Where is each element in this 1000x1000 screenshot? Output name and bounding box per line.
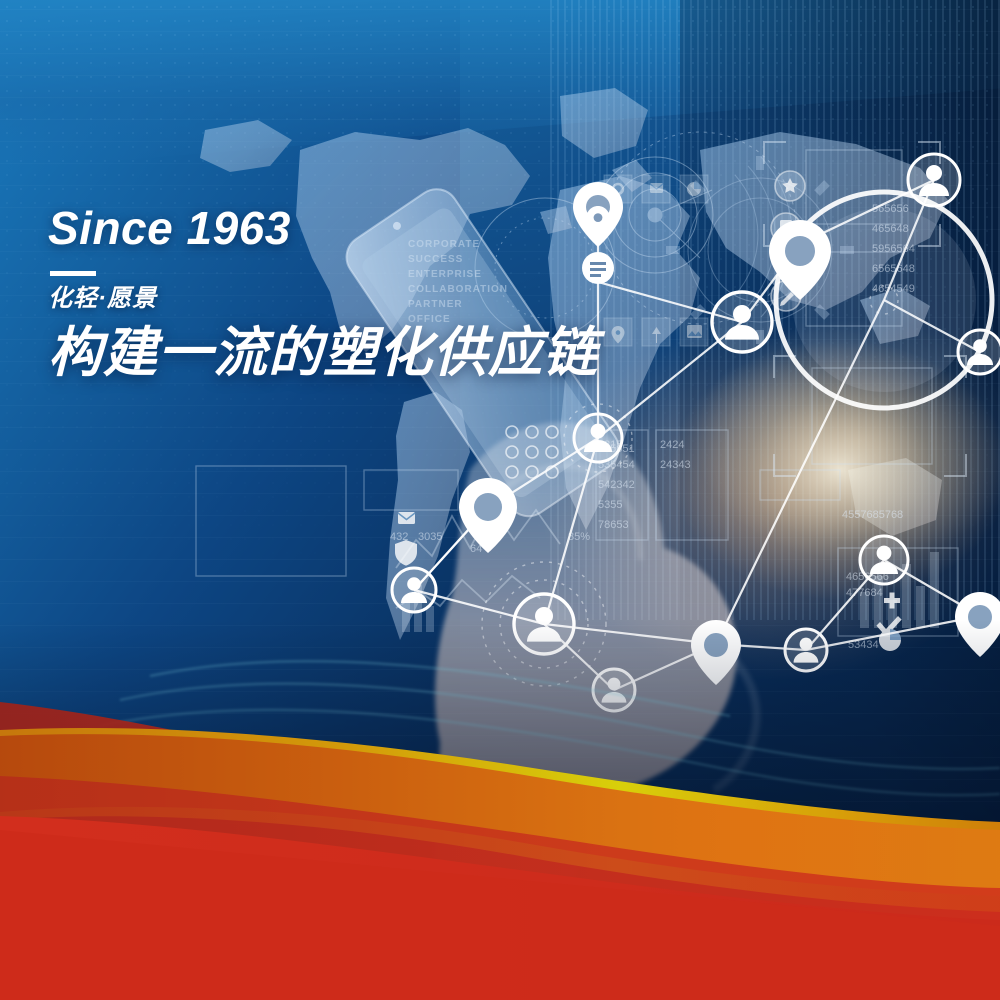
hero-copy: Since 1963 化轻·愿景 构建一流的塑化供应链 <box>48 205 598 383</box>
wave-decoration <box>0 680 1000 1000</box>
subtitle-text: 化轻·愿景 <box>48 286 598 312</box>
svg-text:5355: 5355 <box>598 499 622 511</box>
svg-text:4557685768: 4557685768 <box>842 509 903 521</box>
svg-text:3035: 3035 <box>418 531 442 543</box>
svg-text:24343: 24343 <box>660 459 691 471</box>
hero-banner: 3315 535454 542342 5355 78653 2424 24343… <box>0 0 1000 1000</box>
eyebrow-since-text: Since 1963 <box>48 205 598 251</box>
divider-rule <box>50 271 96 276</box>
svg-text:2424: 2424 <box>660 439 684 451</box>
svg-text:78653: 78653 <box>598 519 629 531</box>
page-title: 构建一流的塑化供应链 <box>48 324 598 382</box>
svg-text:542342: 542342 <box>598 479 635 491</box>
